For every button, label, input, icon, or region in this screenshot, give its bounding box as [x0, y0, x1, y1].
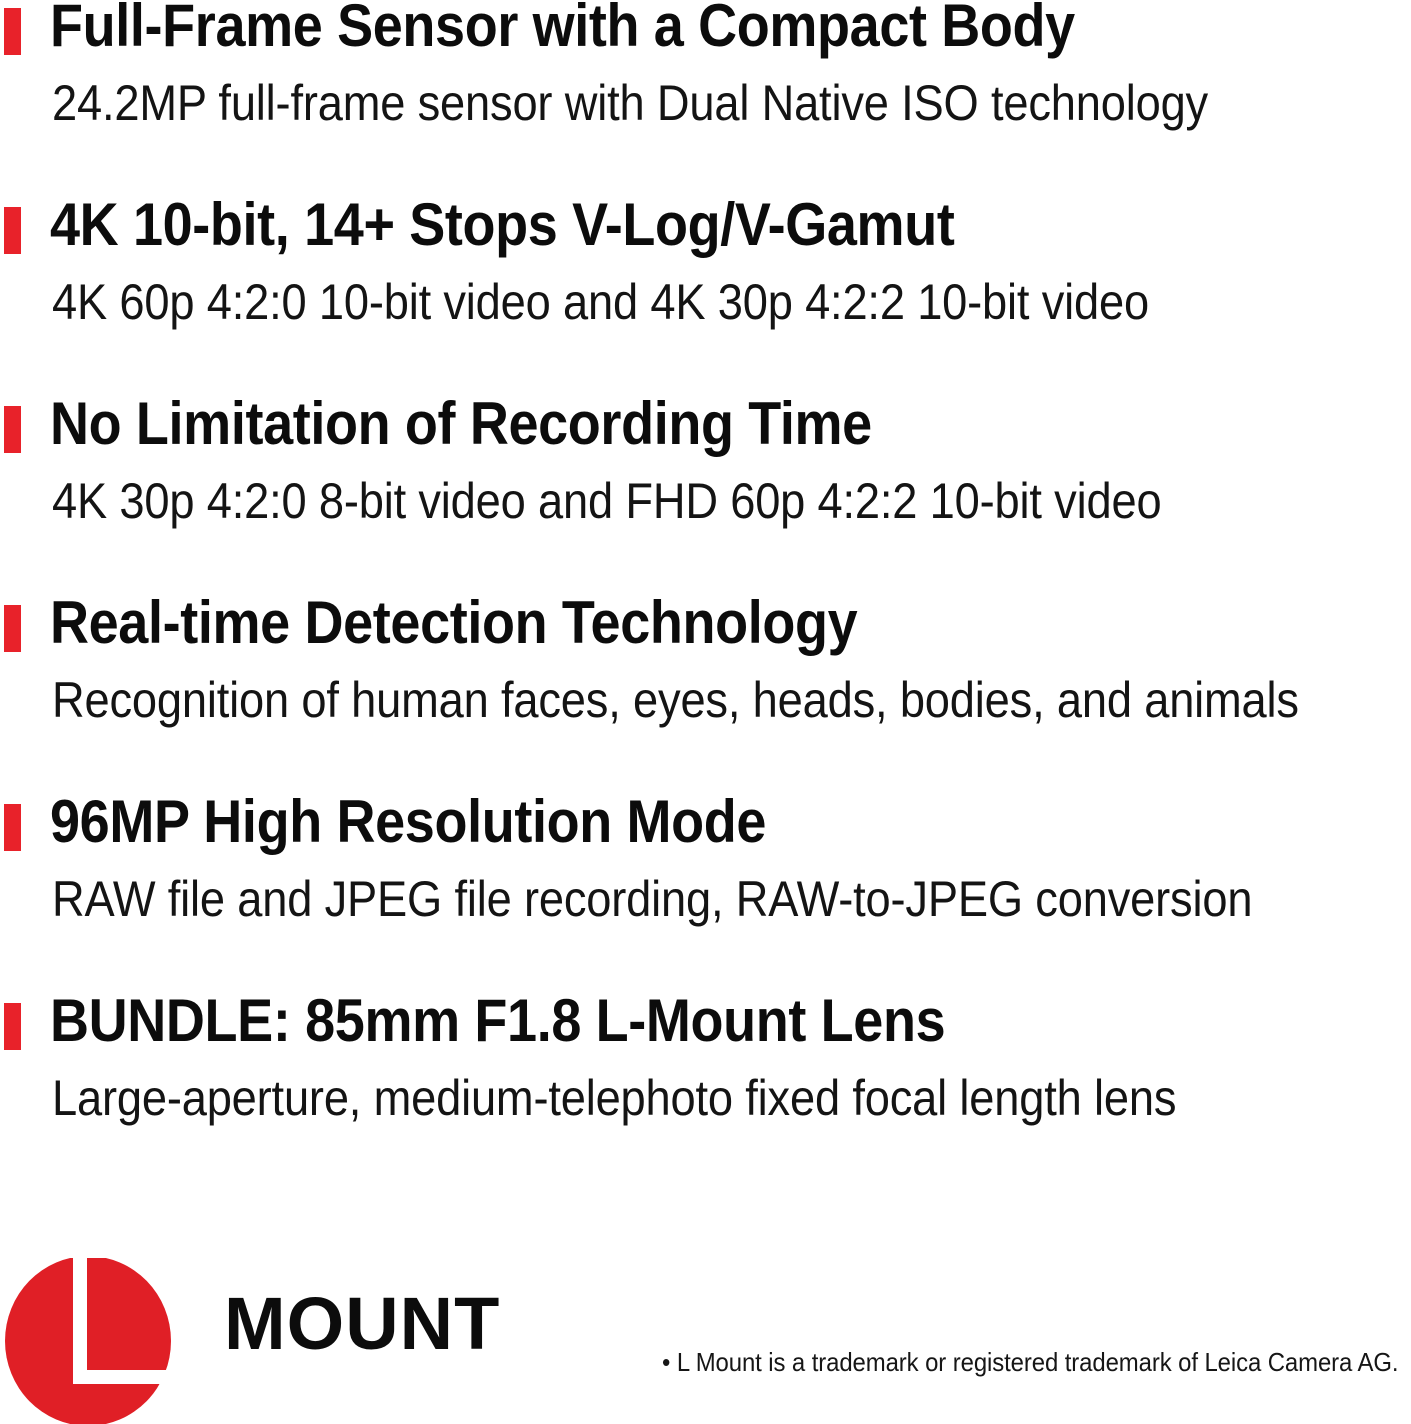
feature-subtext: 4K 60p 4:2:0 10-bit video and 4K 30p 4:2… — [52, 271, 1149, 333]
feature-heading: Full-Frame Sensor with a Compact Body — [50, 0, 1075, 64]
feature-sheet: Full-Frame Sensor with a Compact Body 24… — [0, 0, 1411, 1421]
l-mount-logo-icon — [5, 1258, 171, 1424]
feature-item: BUNDLE: 85mm F1.8 L-Mount Lens Large-ape… — [0, 995, 1411, 1194]
feature-item: Full-Frame Sensor with a Compact Body 24… — [0, 0, 1411, 199]
feature-item: Real-time Detection Technology Recogniti… — [0, 597, 1411, 796]
feature-subtext: Recognition of human faces, eyes, heads,… — [52, 669, 1299, 731]
red-square-bullet-icon — [4, 207, 21, 254]
feature-heading: No Limitation of Recording Time — [50, 386, 872, 462]
red-square-bullet-icon — [4, 605, 21, 652]
feature-heading: BUNDLE: 85mm F1.8 L-Mount Lens — [50, 983, 945, 1059]
red-square-bullet-icon — [4, 8, 21, 55]
feature-item: No Limitation of Recording Time 4K 30p 4… — [0, 398, 1411, 597]
trademark-note: • L Mount is a trademark or registered t… — [662, 1346, 1398, 1378]
feature-subtext: Large-aperture, medium-telephoto fixed f… — [52, 1067, 1176, 1129]
l-mount-footer: MOUNT • L Mount is a trademark or regist… — [0, 1240, 1411, 1421]
red-square-bullet-icon — [4, 406, 21, 453]
feature-heading: 4K 10-bit, 14+ Stops V-Log/V-Gamut — [50, 187, 954, 263]
feature-item: 4K 10-bit, 14+ Stops V-Log/V-Gamut 4K 60… — [0, 199, 1411, 398]
red-square-bullet-icon — [4, 1003, 21, 1050]
feature-heading: Real-time Detection Technology — [50, 585, 857, 661]
feature-item: 96MP High Resolution Mode RAW file and J… — [0, 796, 1411, 995]
mount-wordmark: MOUNT — [224, 1284, 500, 1364]
feature-list: Full-Frame Sensor with a Compact Body 24… — [0, 0, 1411, 1194]
feature-subtext: 4K 30p 4:2:0 8-bit video and FHD 60p 4:2… — [52, 470, 1161, 532]
feature-subtext: 24.2MP full-frame sensor with Dual Nativ… — [52, 72, 1208, 134]
feature-heading: 96MP High Resolution Mode — [50, 784, 766, 860]
red-square-bullet-icon — [4, 804, 21, 851]
feature-subtext: RAW file and JPEG file recording, RAW-to… — [52, 868, 1252, 930]
